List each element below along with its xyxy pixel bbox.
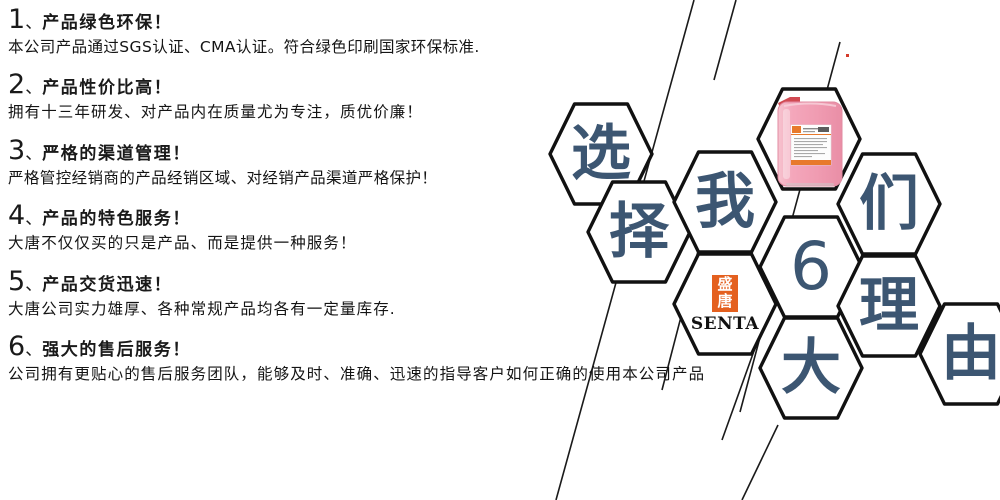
- reason-separator: 、: [25, 78, 42, 98]
- reason-number: 3: [8, 135, 25, 166]
- reason-heading: 1、产品绿色环保！: [8, 6, 668, 33]
- reason-title: 严格的渠道管理！: [42, 144, 191, 164]
- reason-separator: 、: [25, 340, 42, 360]
- reason-number: 4: [8, 200, 25, 231]
- reason-number: 2: [8, 69, 25, 100]
- reason-separator: 、: [25, 275, 42, 295]
- promo-banner: 1、产品绿色环保！ 本公司产品通过SGS认证、CMA认证。符合绿色印刷国家环保标…: [0, 0, 1000, 500]
- honeycomb-graphic: 选 择 我 盛 唐 SENTA: [500, 80, 1000, 430]
- brand-wordmark: SENTA: [691, 314, 759, 334]
- reason-number: 5: [8, 266, 25, 297]
- reason-title: 产品的特色服务！: [42, 209, 191, 229]
- reason-item: 1、产品绿色环保！ 本公司产品通过SGS认证、CMA认证。符合绿色印刷国家环保标…: [8, 6, 668, 58]
- reason-title: 产品性价比高！: [42, 78, 172, 98]
- brand-mark-char-2: 唐: [717, 293, 732, 310]
- reason-number: 1: [8, 4, 25, 35]
- hex-cell-product: [756, 87, 862, 191]
- reason-number: 6: [8, 331, 25, 362]
- hex-label: 由: [918, 302, 1000, 406]
- reason-separator: 、: [25, 13, 42, 33]
- reason-title: 强大的售后服务！: [42, 340, 191, 360]
- reason-body: 本公司产品通过SGS认证、CMA认证。符合绿色印刷国家环保标准.: [8, 36, 668, 58]
- hex-cell-you: 由: [918, 302, 1000, 406]
- product-photo-jerrycan-icon: [774, 93, 846, 190]
- brand-mark-icon: 盛 唐: [712, 275, 738, 312]
- brand-mark-char-1: 盛: [717, 276, 732, 293]
- reason-separator: 、: [25, 144, 42, 164]
- reason-title: 产品绿色环保！: [42, 13, 172, 33]
- reason-title: 产品交货迅速！: [42, 275, 172, 295]
- reason-separator: 、: [25, 209, 42, 229]
